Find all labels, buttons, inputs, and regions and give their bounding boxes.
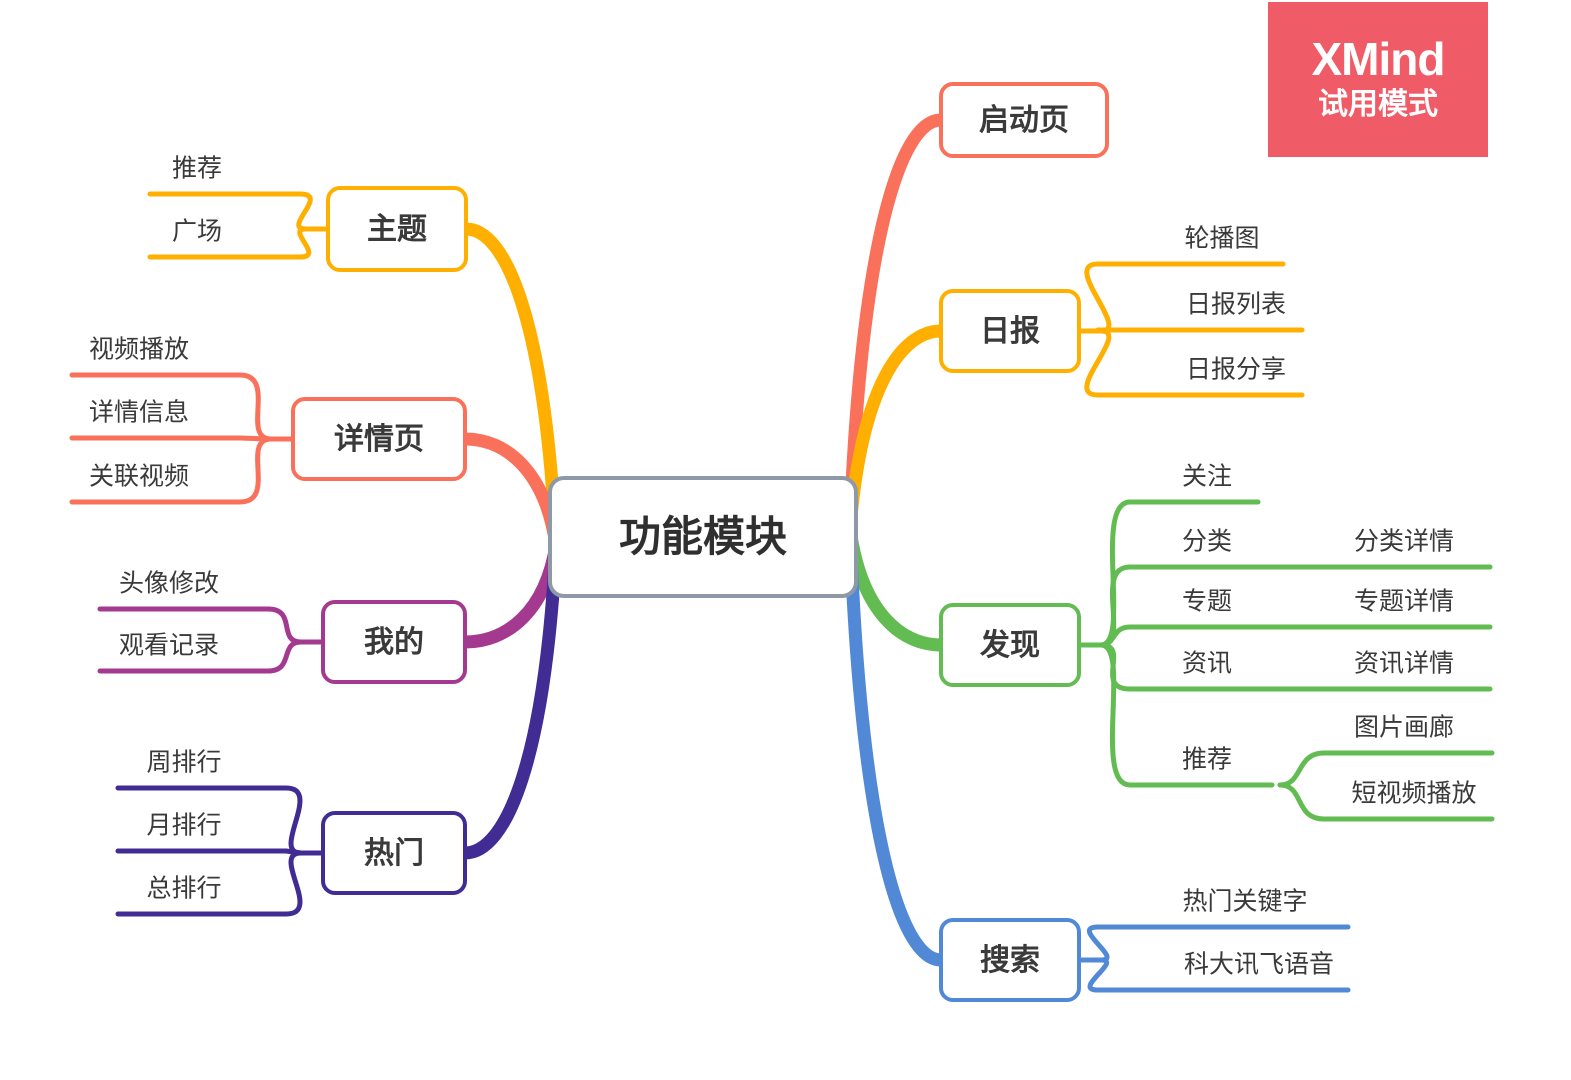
- child-label: 关注: [1182, 463, 1232, 491]
- xmind-watermark-badge: XMind 试用模式: [1268, 2, 1488, 157]
- child-label: 总排行: [146, 875, 221, 903]
- child-elbow: [1090, 960, 1107, 990]
- child-label: 视频播放: [89, 336, 189, 364]
- root-node-label: 功能模块: [619, 513, 787, 560]
- child-label: 广场: [172, 218, 222, 246]
- child-elbow: [299, 194, 311, 229]
- grandchild-elbow: [1280, 753, 1324, 785]
- child-label: 资讯: [1182, 650, 1232, 678]
- child-label: 详情信息: [89, 399, 189, 427]
- child-elbow: [268, 642, 301, 671]
- child-label: 关联视频: [89, 463, 189, 491]
- grandchild-label: 专题详情: [1354, 588, 1454, 616]
- grandchild-label: 短视频播放: [1351, 780, 1476, 808]
- branch-label-qidongye: 启动页: [979, 104, 1069, 137]
- branch-label-remen: 热门: [364, 837, 424, 870]
- child-label: 热门关键字: [1182, 888, 1307, 916]
- branch-trunk-faxian: [850, 529, 941, 645]
- branch-label-xiangqingye: 详情页: [334, 423, 424, 456]
- xmind-brand-label: XMind: [1312, 35, 1445, 83]
- child-elbow: [240, 375, 271, 439]
- branch-label-faxian: 发现: [979, 629, 1040, 662]
- child-elbow: [268, 609, 301, 642]
- child-label: 推荐: [1182, 746, 1232, 774]
- child-label: 推荐: [172, 155, 222, 183]
- branch-label-ribao: 日报: [980, 315, 1040, 348]
- branch-label-wode: 我的: [364, 626, 424, 659]
- child-elbow: [286, 853, 301, 914]
- grandchild-label: 分类详情: [1354, 528, 1454, 556]
- child-elbow: [1089, 927, 1107, 960]
- xmind-trial-mode-label: 试用模式: [1318, 85, 1438, 124]
- child-label: 日报分享: [1186, 356, 1286, 384]
- child-label: 头像修改: [119, 570, 219, 598]
- child-label: 日报列表: [1186, 291, 1286, 319]
- child-elbow: [240, 439, 271, 502]
- branch-trunk-wode: [465, 545, 556, 642]
- child-label: 周排行: [146, 749, 221, 777]
- child-label: 月排行: [146, 812, 221, 840]
- child-elbow: [286, 788, 301, 853]
- child-elbow: [300, 229, 309, 257]
- child-label: 科大讯飞语音: [1184, 951, 1334, 979]
- child-elbow: [1101, 645, 1130, 785]
- branch-label-sousuo: 搜索: [980, 944, 1040, 977]
- mindmap-canvas: 功能模块启动页日报轮播图日报列表日报分享发现关注分类分类详情专题专题详情资讯资讯…: [0, 0, 1571, 1080]
- branch-label-zhuti: 主题: [367, 213, 427, 246]
- branch-trunk-xiangqingye: [465, 439, 556, 545]
- grandchild-label: 资讯详情: [1354, 650, 1454, 678]
- child-label: 轮播图: [1184, 225, 1259, 253]
- child-elbow: [1087, 264, 1109, 331]
- child-label: 专题: [1182, 588, 1232, 616]
- child-elbow: [1087, 331, 1109, 395]
- grandchild-elbow: [1280, 785, 1324, 819]
- grandchild-label: 图片画廊: [1354, 714, 1454, 742]
- child-label: 观看记录: [119, 632, 219, 660]
- child-label: 分类: [1182, 528, 1232, 556]
